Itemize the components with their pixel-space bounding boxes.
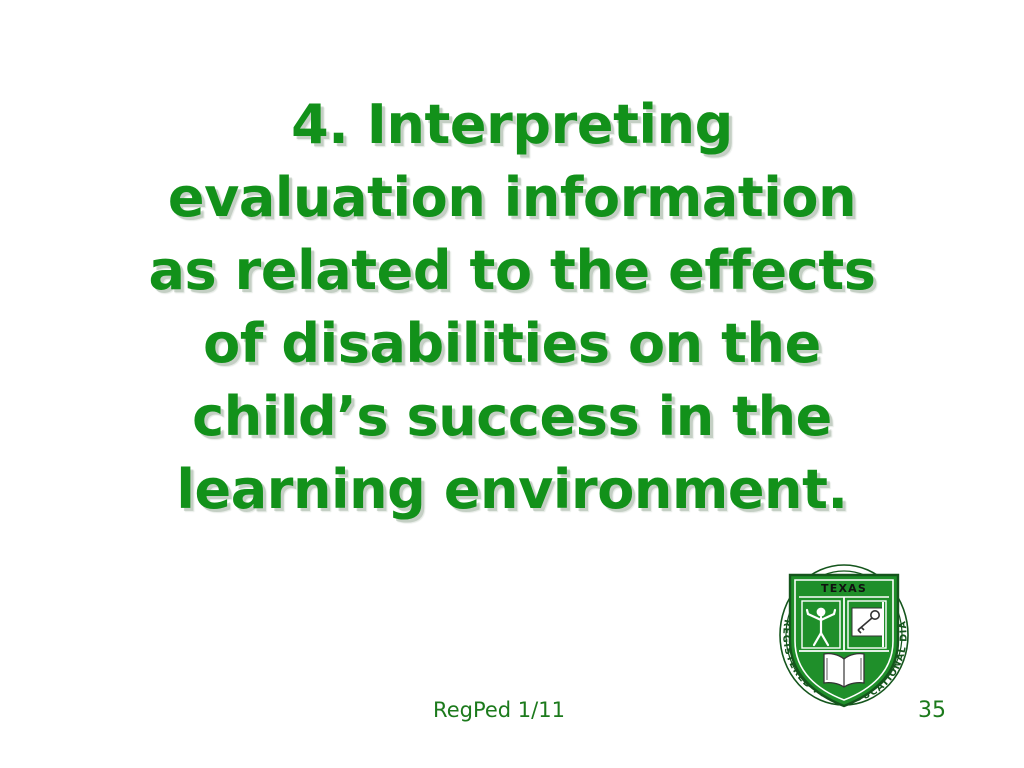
page-title: 4. Interpreting evaluation information a… <box>72 88 952 526</box>
title-line-1: 4. Interpreting <box>72 88 952 161</box>
title-line-5: child’s success in the <box>72 380 952 453</box>
slide-canvas: 4. Interpreting evaluation information a… <box>0 0 1024 768</box>
title-line-6: learning environment. <box>72 453 952 526</box>
footer-label: RegPed 1/11 <box>0 698 1024 722</box>
title-line-3: as related to the effects <box>72 234 952 307</box>
organization-logo: REGISTERED PROFESSIONAL EDUCATIONAL DIAG… <box>768 557 920 712</box>
page-number: 35 <box>918 698 988 723</box>
svg-text:TEXAS: TEXAS <box>821 582 867 595</box>
title-line-2: evaluation information <box>72 161 952 234</box>
open-book-icon <box>824 654 864 687</box>
title-line-4: of disabilities on the <box>72 307 952 380</box>
footer-label-text: RegPed 1/11 <box>433 698 565 722</box>
